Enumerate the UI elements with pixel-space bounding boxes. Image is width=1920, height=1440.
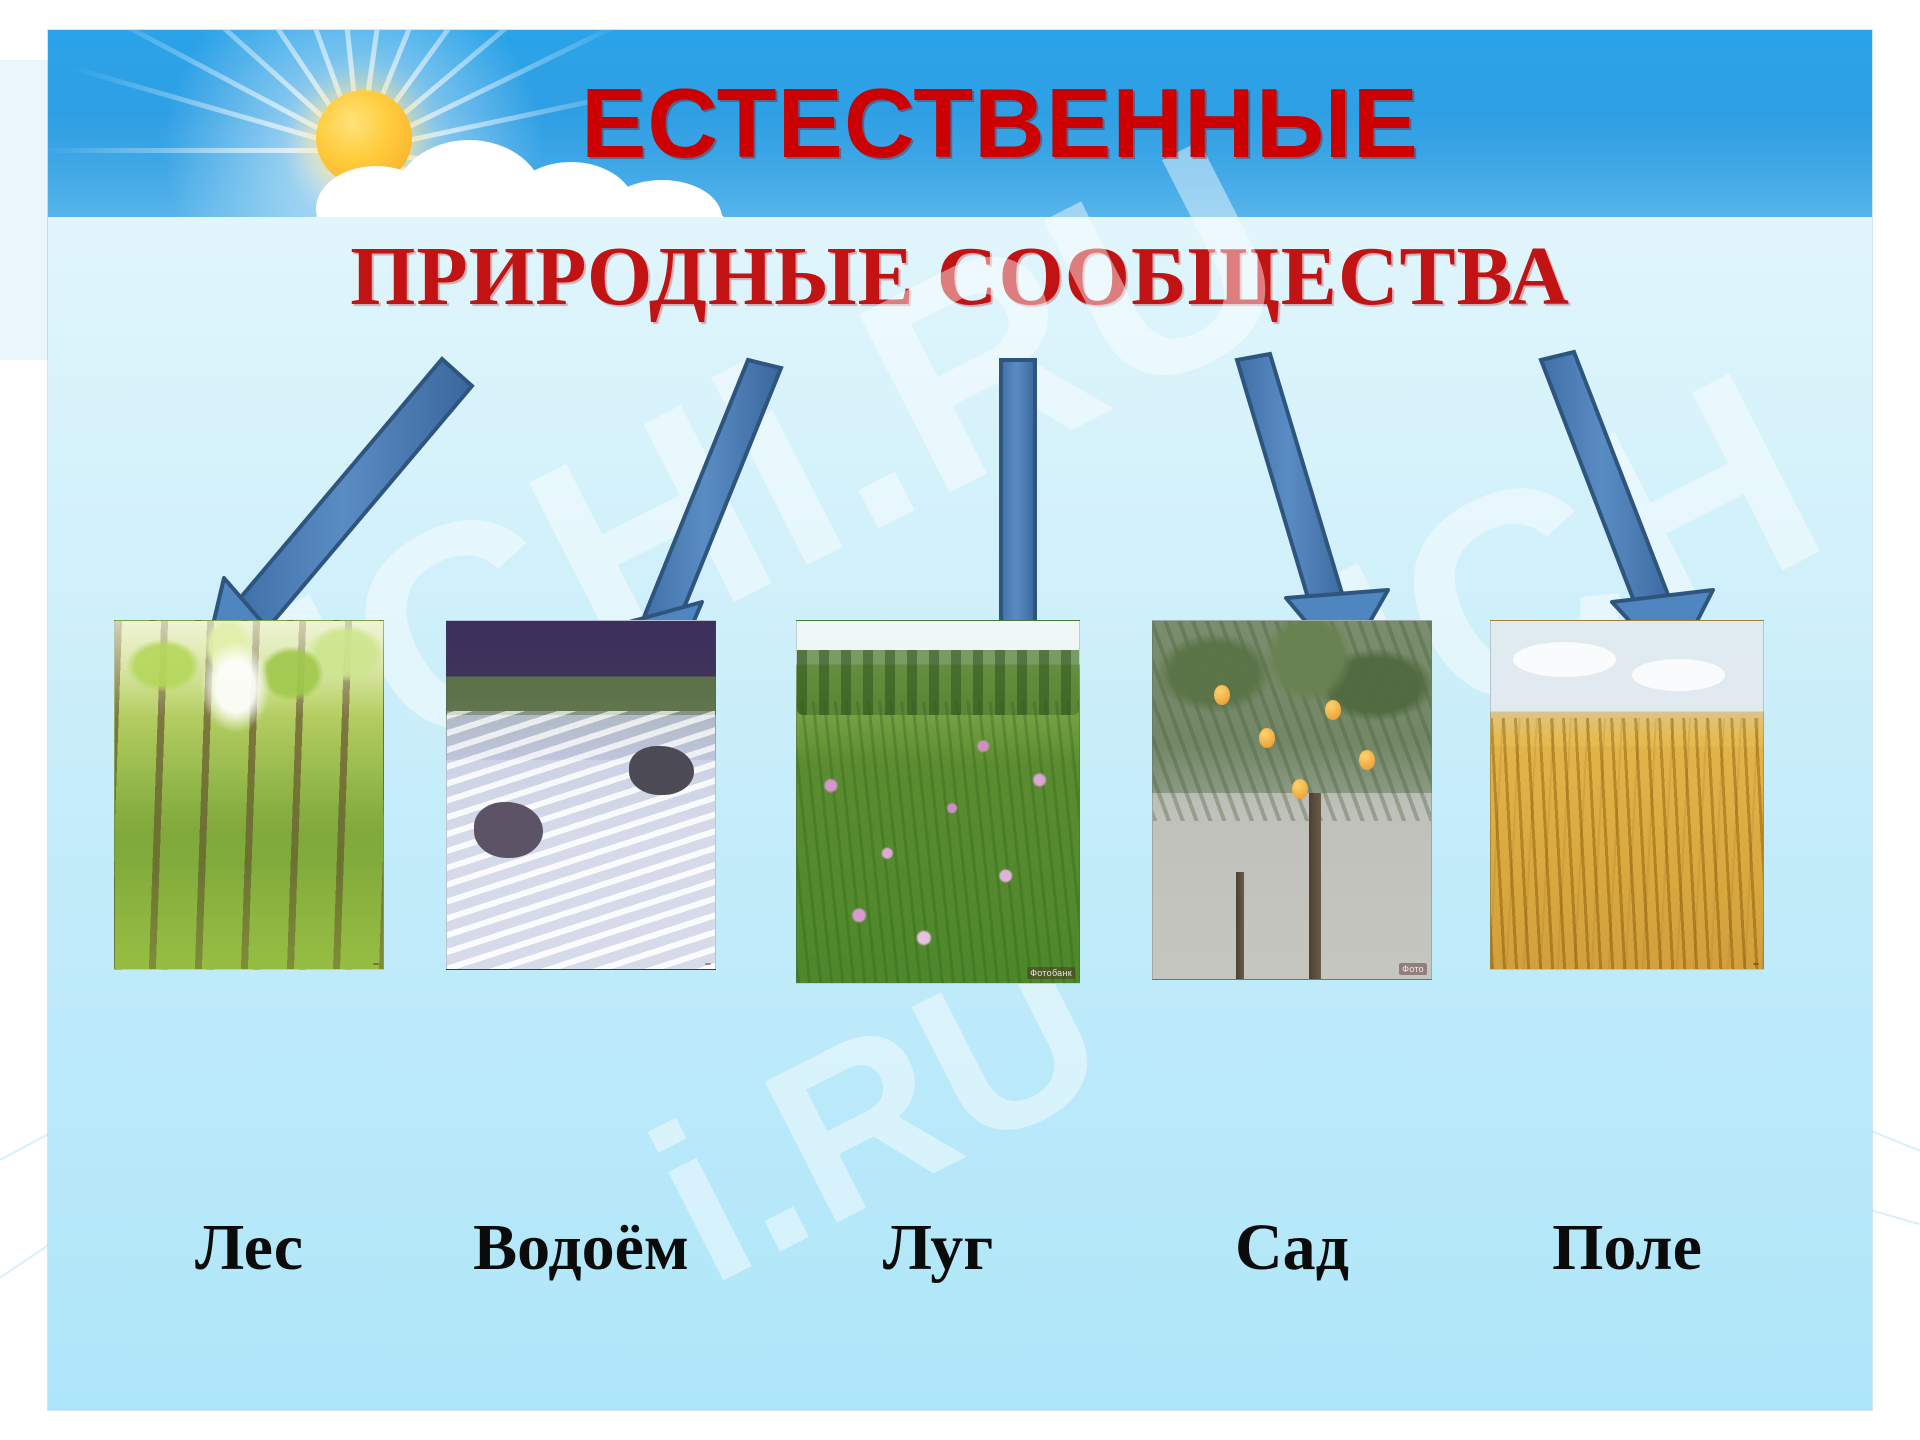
- community-image-garden[interactable]: Фото: [1152, 620, 1432, 980]
- community-image-forest[interactable]: [114, 620, 384, 970]
- caption-forest: Лес: [114, 1210, 384, 1286]
- community-image-meadow[interactable]: Фотобанк: [796, 620, 1080, 984]
- caption-garden: Сад: [1152, 1210, 1432, 1286]
- image-credit: [1753, 963, 1759, 965]
- image-credit: [373, 963, 379, 965]
- caption-field: Поле: [1490, 1210, 1764, 1286]
- image-credit: [705, 963, 711, 965]
- slide-canvas: ЕСТЕСТВЕННЫЕ ПРИРОДНЫЕ СООБЩЕСТВА UCHi.R…: [48, 30, 1872, 1410]
- community-images-row: Фотобанк Фото: [48, 620, 1872, 1040]
- image-credit: Фотобанк: [1027, 967, 1075, 979]
- community-image-water[interactable]: [446, 620, 716, 970]
- caption-meadow: Луг: [796, 1210, 1080, 1286]
- community-captions-row: Лес Водоём Луг Сад Поле: [48, 1210, 1872, 1320]
- community-image-field[interactable]: [1490, 620, 1764, 970]
- image-credit: Фото: [1399, 963, 1427, 975]
- caption-water: Водоём: [436, 1210, 726, 1286]
